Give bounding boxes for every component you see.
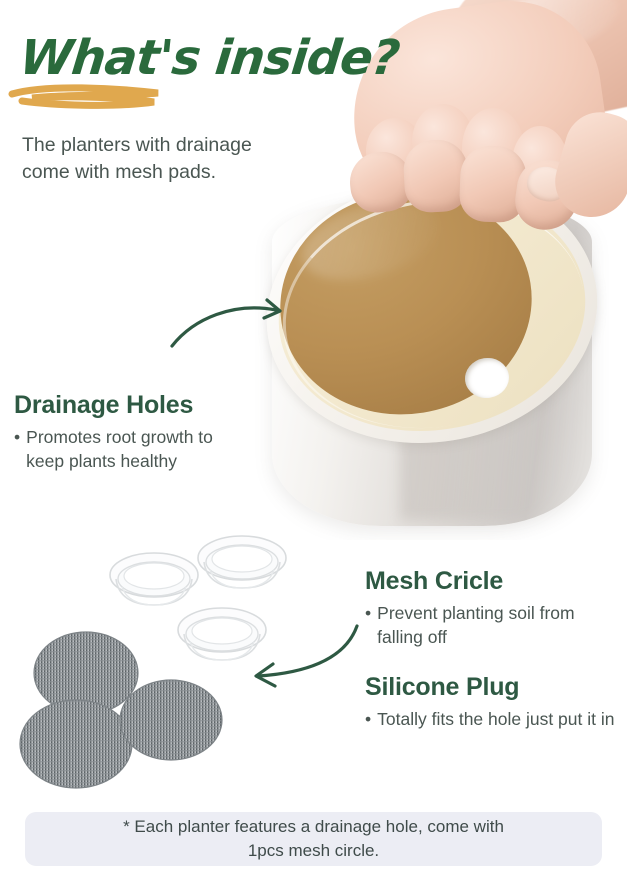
feature-bullet-plug: • Totally fits the hole just put it in xyxy=(365,707,620,731)
footer-note: * Each planter features a drainage hole,… xyxy=(25,812,602,866)
page-title: What's inside? xyxy=(17,30,402,86)
feature-bullet-mesh: • Prevent planting soil from falling off xyxy=(365,601,615,649)
bullet-marker: • xyxy=(14,425,20,473)
feature-block-mesh: Mesh Cricle • Prevent planting soil from… xyxy=(365,566,615,649)
feature-title-plug: Silicone Plug xyxy=(365,672,620,702)
footer-note-line-2: 1pcs mesh circle. xyxy=(123,839,504,863)
feature-title-drainage: Drainage Holes xyxy=(14,390,254,420)
mesh-circle xyxy=(118,678,224,762)
infographic-page: What's inside? The planters with drainag… xyxy=(0,0,627,879)
curved-arrow-right-icon xyxy=(168,288,298,350)
footer-note-line-1: * Each planter features a drainage hole,… xyxy=(123,815,504,839)
bullet-text: Totally fits the hole just put it in xyxy=(377,707,614,731)
bullet-marker: • xyxy=(365,601,371,649)
feature-bullet-drainage: • Promotes root growth to keep plants he… xyxy=(14,425,254,473)
feature-title-mesh: Mesh Cricle xyxy=(365,566,615,596)
bullet-text: Prevent planting soil from falling off xyxy=(377,601,615,649)
mesh-circle xyxy=(18,698,134,790)
feature-block-drainage: Drainage Holes • Promotes root growth to… xyxy=(14,390,254,473)
feature-block-plug: Silicone Plug • Totally fits the hole ju… xyxy=(365,672,620,731)
subtitle: The planters with drainage come with mes… xyxy=(22,132,290,186)
silicone-plug xyxy=(196,528,288,600)
curved-arrow-left-icon xyxy=(243,620,363,690)
bullet-marker: • xyxy=(365,707,371,731)
bullet-text: Promotes root growth to keep plants heal… xyxy=(26,425,254,473)
brush-underline-icon xyxy=(8,82,178,110)
